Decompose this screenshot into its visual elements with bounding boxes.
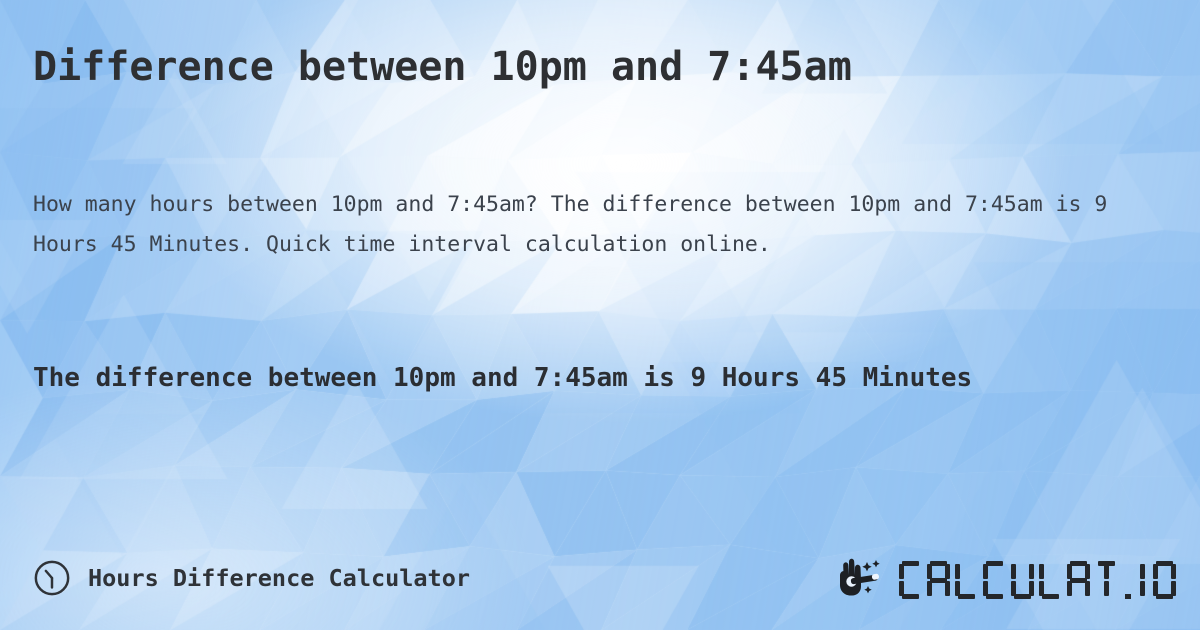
clock-icon (33, 559, 71, 597)
intro-paragraph: How many hours between 10pm and 7:45am? … (33, 185, 1125, 265)
brand-letter-A (1067, 561, 1090, 599)
brand-letter-O (1153, 561, 1176, 599)
brand-letter-L (955, 561, 978, 599)
brand-letter-A (927, 561, 950, 599)
magic-wand-hand-icon (838, 558, 890, 598)
brand-letter-U (1011, 561, 1034, 599)
brand-letter-T (1095, 561, 1118, 599)
brand-letter-dot (1123, 561, 1133, 599)
brand-letter-C (983, 561, 1006, 599)
result-heading: The difference between 10pm and 7:45am i… (33, 355, 1093, 402)
footer-brand-left: Hours Difference Calculator (33, 559, 470, 597)
brand-wordmark (899, 557, 1176, 599)
footer-label: Hours Difference Calculator (88, 564, 470, 592)
brand-letter-C (899, 561, 922, 599)
footer: Hours Difference Calculator (33, 554, 1176, 602)
brand-letter-I (1138, 561, 1148, 599)
page-container: Difference between 10pm and 7:45am How m… (0, 0, 1200, 630)
page-title: Difference between 10pm and 7:45am (33, 44, 1167, 90)
brand-logo[interactable] (838, 557, 1176, 599)
brand-letter-L (1039, 561, 1062, 599)
